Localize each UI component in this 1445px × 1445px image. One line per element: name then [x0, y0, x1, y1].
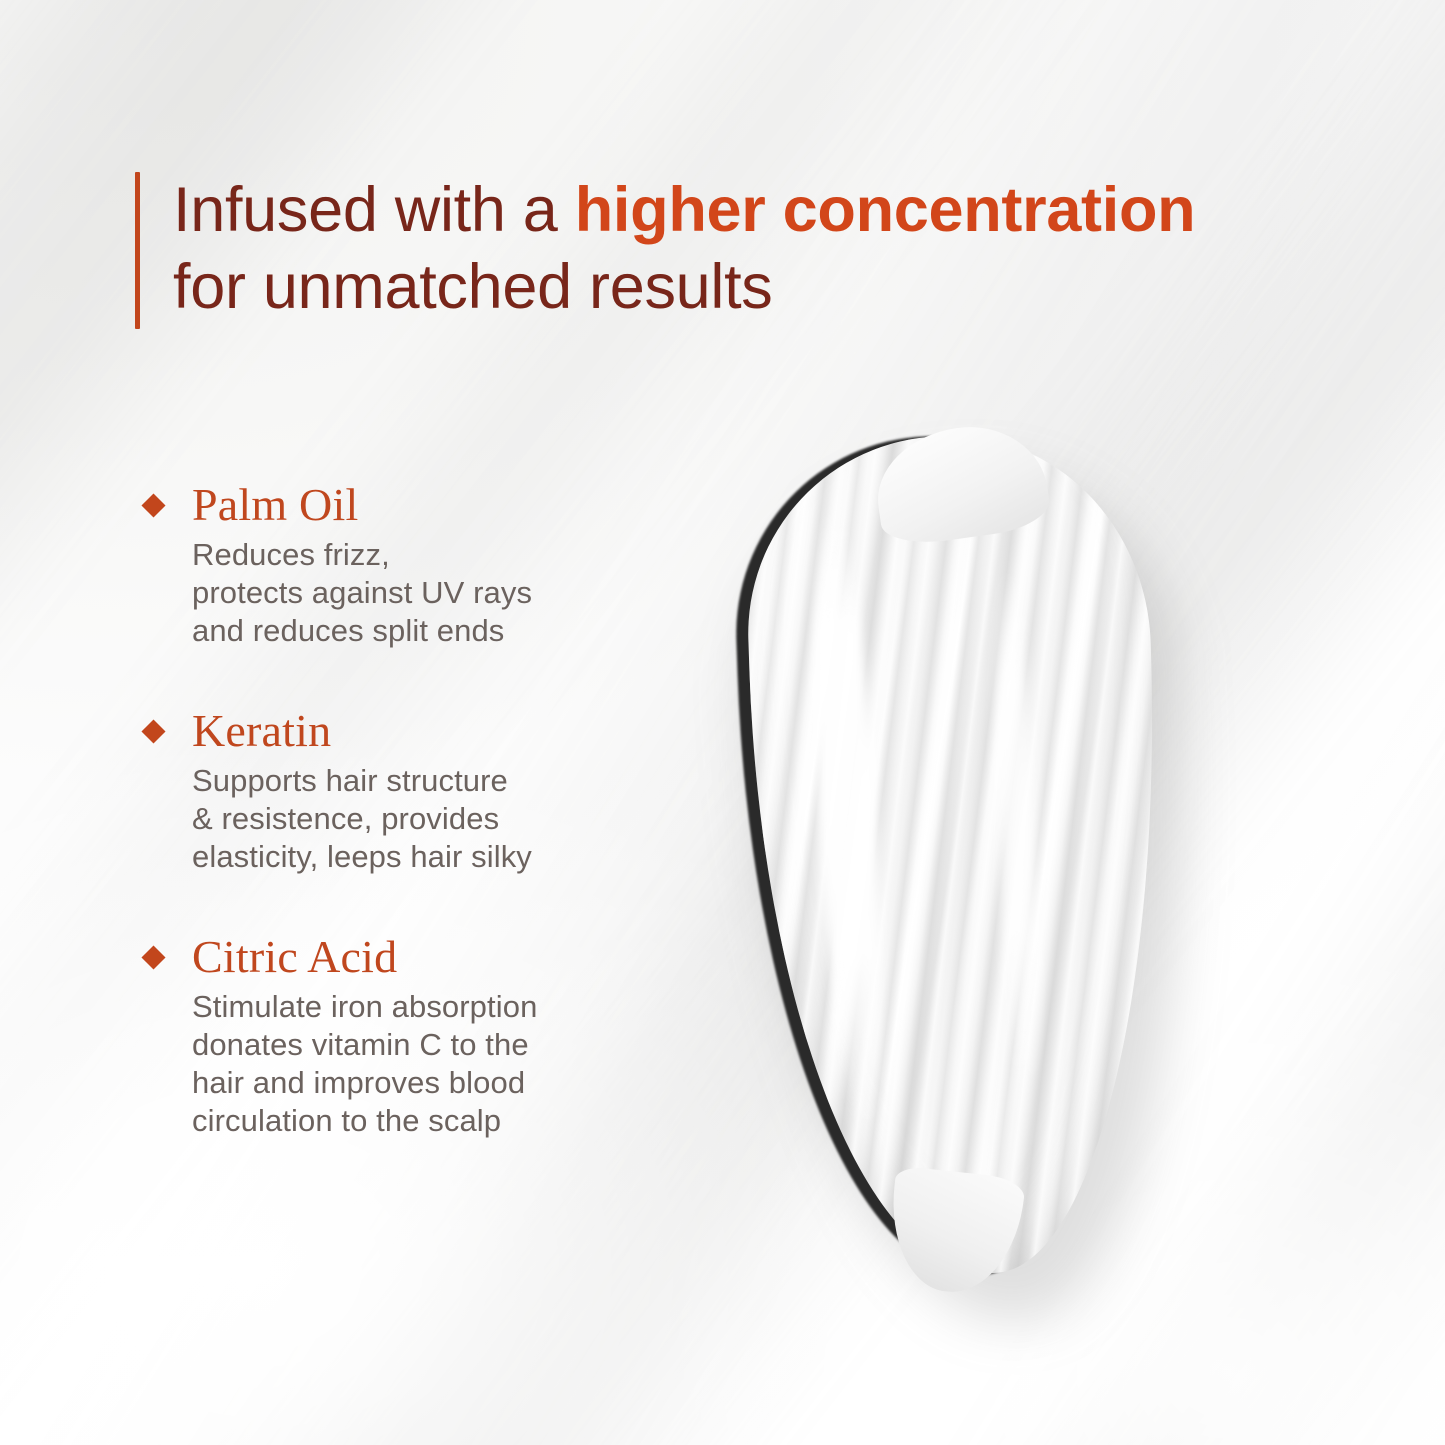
ingredient-description: Stimulate iron absorption donates vitami… — [143, 988, 613, 1140]
ingredient-list: Palm Oil Reduces frizz, protects against… — [143, 480, 613, 1140]
headline-text: Infused with a higher concentration for … — [173, 172, 1195, 329]
ingredient-item-citric-acid: Citric Acid Stimulate iron absorption do… — [143, 932, 613, 1140]
ingredient-heading: Citric Acid — [143, 932, 613, 982]
diamond-bullet-icon — [141, 945, 165, 969]
headline-block: Infused with a higher concentration for … — [135, 172, 1195, 329]
ingredient-name: Palm Oil — [192, 480, 358, 530]
ingredient-heading: Palm Oil — [143, 480, 613, 530]
headline-line2: for unmatched results — [173, 249, 1195, 326]
ingredient-name: Keratin — [192, 706, 331, 756]
ingredient-name: Citric Acid — [192, 932, 397, 982]
accent-bar — [135, 172, 140, 329]
diamond-bullet-icon — [141, 493, 165, 517]
promo-infographic: Infused with a higher concentration for … — [0, 0, 1445, 1445]
diamond-bullet-icon — [141, 719, 165, 743]
ingredient-description: Reduces frizz, protects against UV rays … — [143, 536, 613, 650]
headline-line1-prefix: Infused with a — [173, 175, 575, 245]
ingredient-item-keratin: Keratin Supports hair structure & resist… — [143, 706, 613, 876]
product-cream-swatch — [700, 420, 1220, 1340]
ingredient-item-palm-oil: Palm Oil Reduces frizz, protects against… — [143, 480, 613, 650]
ingredient-heading: Keratin — [143, 706, 613, 756]
headline-line1-strong: higher concentration — [575, 175, 1196, 245]
ingredient-description: Supports hair structure & resistence, pr… — [143, 762, 613, 876]
